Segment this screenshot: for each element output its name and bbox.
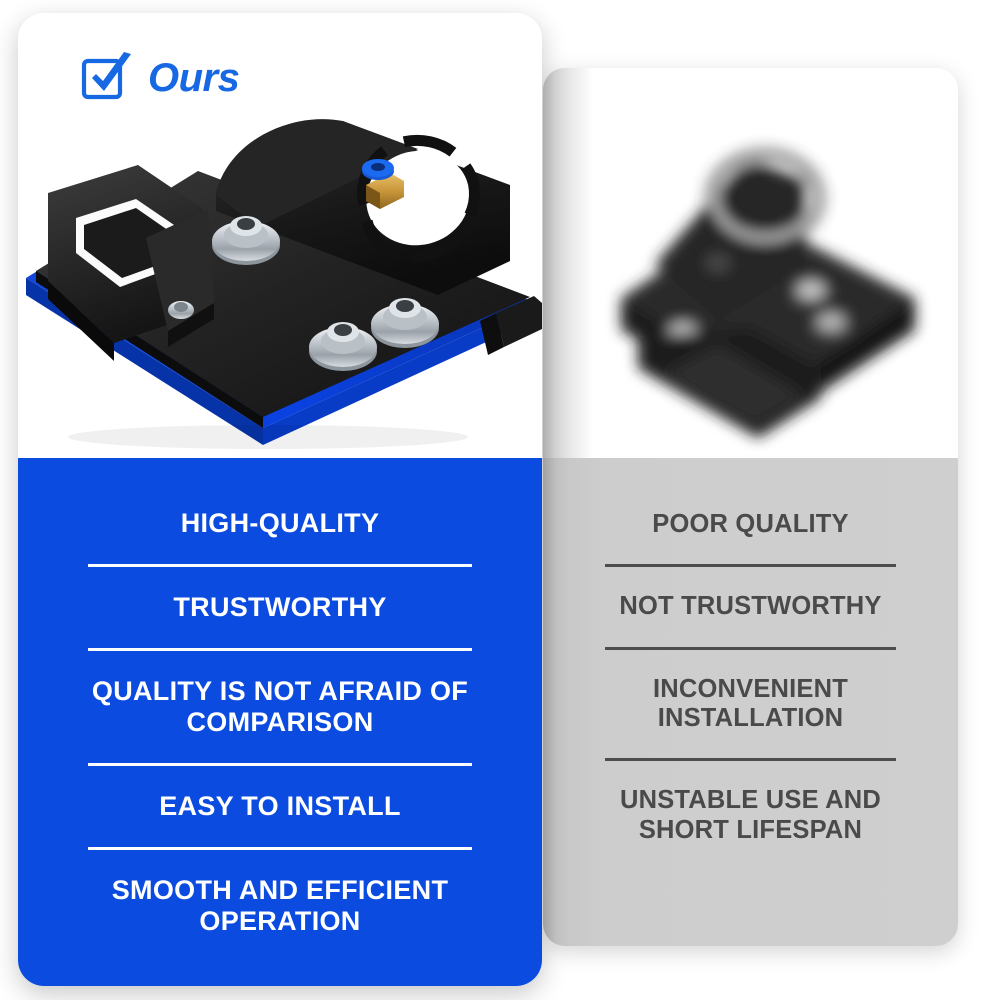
divider: [88, 847, 472, 850]
others-feature-list: POOR QUALITY NOT TRUSTWORTHY INCONVENIEN…: [543, 458, 958, 946]
list-item: UNSTABLE USE AND SHORT LIFESPAN: [561, 786, 940, 845]
list-item: INCONVENIENT INSTALLATION: [561, 675, 940, 734]
ours-feature-list: HIGH-QUALITY TRUSTWORTHY QUALITY IS NOT …: [18, 458, 542, 986]
list-item: NOT TRUSTWORTHY: [561, 592, 940, 621]
list-item: SMOOTH AND EFFICIENT OPERATION: [36, 875, 524, 937]
divider: [605, 758, 896, 761]
others-product-photo: [543, 68, 958, 458]
list-item: HIGH-QUALITY: [36, 508, 524, 539]
others-card: Others POOR QUALITY NOT TRUSTWORTHY INCO…: [543, 68, 958, 946]
divider: [605, 647, 896, 650]
list-item: TRUSTWORTHY: [36, 592, 524, 623]
comparison-stage: Others POOR QUALITY NOT TRUSTWORTHY INCO…: [0, 0, 997, 1000]
list-item: POOR QUALITY: [561, 510, 940, 539]
ours-card: Ours HIGH-QUALITY TRUSTWORTHY QUALITY IS…: [18, 13, 542, 986]
list-item: EASY TO INSTALL: [36, 791, 524, 822]
others-product-image: [543, 68, 958, 458]
ours-badge: Ours: [80, 51, 239, 105]
divider: [88, 648, 472, 651]
checkbox-check-icon: [80, 51, 134, 105]
divider: [605, 564, 896, 567]
ours-label: Ours: [148, 58, 239, 98]
list-item: QUALITY IS NOT AFRAID OF COMPARISON: [36, 676, 524, 738]
divider: [88, 564, 472, 567]
divider: [88, 763, 472, 766]
